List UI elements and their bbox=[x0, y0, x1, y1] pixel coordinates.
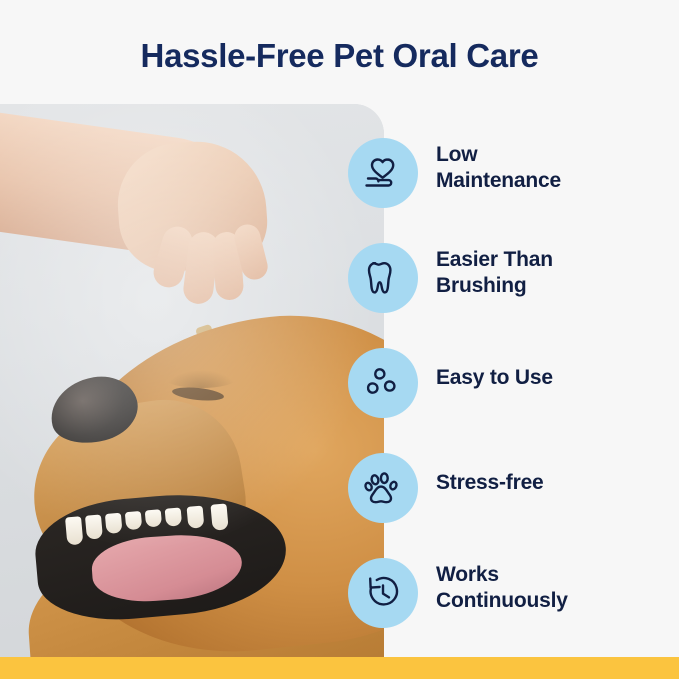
paw-print-icon bbox=[348, 453, 418, 523]
feature-label: Easier Than Brushing bbox=[436, 247, 671, 299]
feature-item-low-maintenance: Low Maintenance bbox=[348, 130, 679, 235]
tooth-icon bbox=[348, 243, 418, 313]
feature-label: Works Continuously bbox=[436, 562, 671, 614]
feature-item-easier-than-brushing: Easier Than Brushing bbox=[348, 235, 679, 340]
feature-item-easy-to-use: Easy to Use bbox=[348, 340, 679, 445]
feature-label: Stress-free bbox=[436, 470, 671, 496]
photo-vignette bbox=[0, 104, 384, 657]
bottom-accent-bar bbox=[0, 657, 679, 679]
clock-rotate-icon bbox=[348, 558, 418, 628]
feature-item-works-continuously: Works Continuously bbox=[348, 550, 679, 655]
pellets-icon bbox=[348, 348, 418, 418]
feature-label: Low Maintenance bbox=[436, 142, 671, 194]
infographic-page: Hassle-Free Pet Oral Care bbox=[0, 0, 679, 679]
heart-in-hand-icon bbox=[348, 138, 418, 208]
feature-label: Easy to Use bbox=[436, 365, 671, 391]
feature-list: Low Maintenance Easier Than Brushing Eas… bbox=[348, 130, 679, 655]
page-title: Hassle-Free Pet Oral Care bbox=[0, 36, 679, 76]
feature-item-stress-free: Stress-free bbox=[348, 445, 679, 550]
product-photo bbox=[0, 104, 384, 657]
